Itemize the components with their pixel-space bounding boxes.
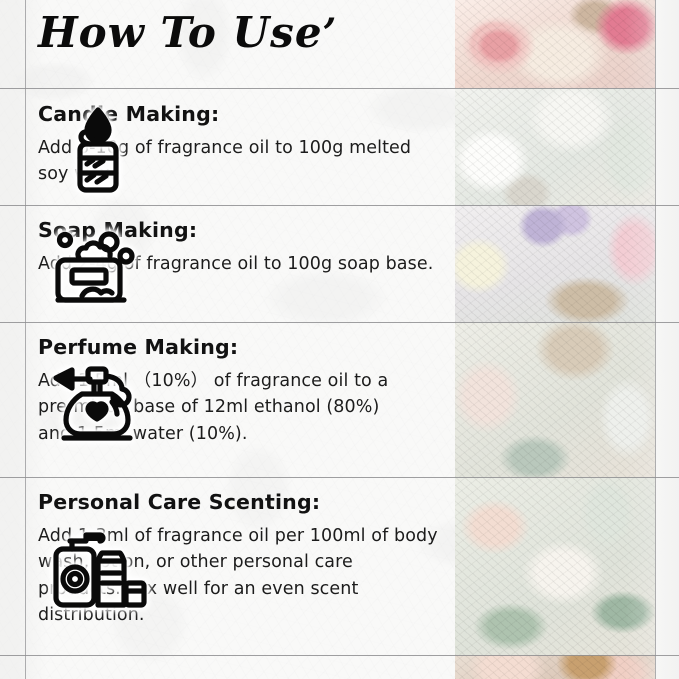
warm-floral-photo-band [455, 655, 655, 679]
page-title: How To Use’ [38, 12, 337, 54]
divider-after-candle [0, 205, 679, 206]
sage-bloom-photo-band [455, 322, 655, 477]
how-to-use-infographic: How To Use’ Candle Making: Add 6-10g of … [0, 0, 679, 679]
lilac-berry-photo-band [455, 205, 655, 322]
perfume-bottle-icon [50, 358, 146, 450]
page-title-text: How To Use [38, 8, 323, 57]
divider-after-soap [0, 322, 679, 323]
divider-after-title [0, 88, 679, 89]
section-heading-personal-care-scenting: Personal Care Scenting: [38, 491, 438, 514]
rose-photo-band [455, 0, 655, 88]
right-margin-rule [655, 0, 656, 679]
leaf-photo-band [455, 477, 655, 655]
candle-icon [55, 104, 141, 196]
personal-care-products-icon [50, 521, 148, 617]
floral-photo-column [455, 0, 655, 679]
left-margin-rule [25, 0, 26, 679]
divider-after-personal-care [0, 655, 679, 656]
soap-bar-icon [52, 226, 144, 312]
divider-after-perfume [0, 477, 679, 478]
title-flourish: ’ [323, 10, 338, 57]
white-bloom-photo-band [455, 88, 655, 205]
right-edge-fade [655, 0, 679, 679]
section-heading-perfume-making: Perfume Making: [38, 336, 410, 359]
